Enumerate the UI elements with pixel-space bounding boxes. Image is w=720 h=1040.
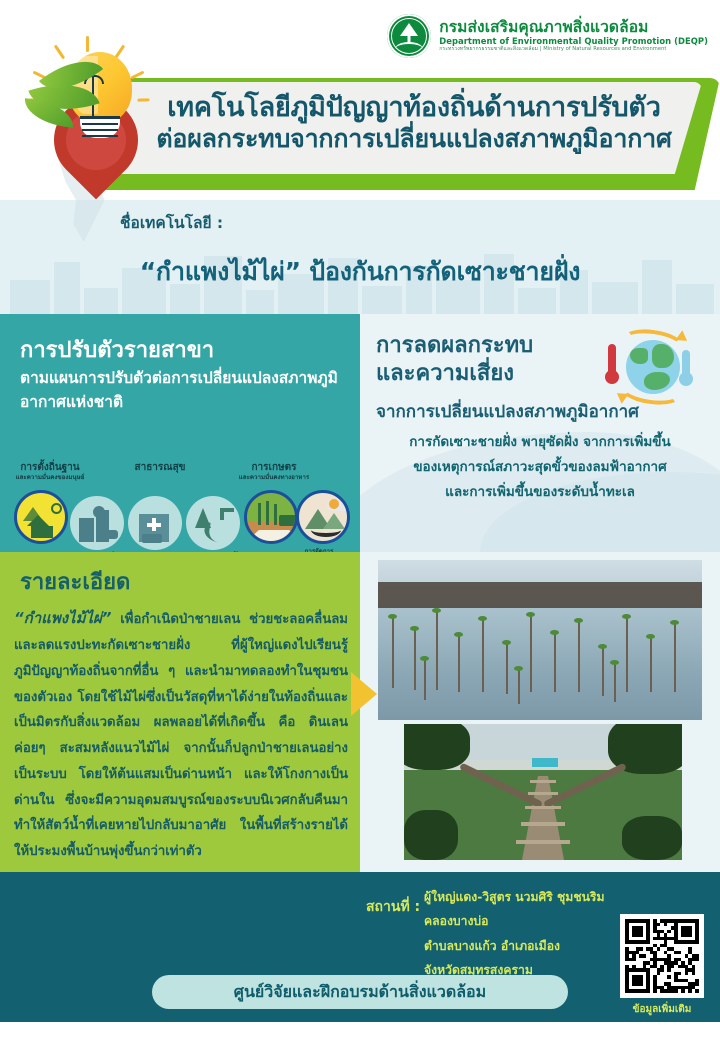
ministry-line: กระทรวงทรัพยากรธรรมชาติและสิ่งแวดล้อม | … (439, 47, 708, 53)
title-banner: เทคโนโลยีภูมิปัญญาท้องถิ่นด้านการปรับตัว… (88, 78, 720, 190)
adaptation-subheading: ตามแผนการปรับตัวต่อการเปลี่ยนแปลงสภาพภูม… (20, 366, 350, 414)
yellow-arrow-icon (351, 672, 377, 716)
sector-label-public-health: สาธารณสุข (120, 462, 200, 474)
details-text: เพื่อกำเนิดป่าชายเลน ช่วยชะลอคลื่นลมและล… (14, 612, 348, 859)
sector-icon-settlement[interactable] (14, 490, 68, 544)
mitigation-panel: การลดผลกระทบ และความเสี่ยง จากการเปลี่ยน… (360, 314, 720, 552)
thermometer-cold-icon (682, 350, 690, 376)
footer-badge: ศูนย์วิจัยและฝึกอบรมด้านสิ่งแวดล้อม (152, 975, 568, 1009)
sector-label-settlement: การตั้งถิ่นฐาน และความมั่นคงของมนุษย์ (2, 462, 98, 481)
adaptation-panel: การปรับตัวรายสาขา ตามแผนการปรับตัวต่อการ… (0, 314, 360, 552)
deqp-seal-icon (387, 14, 431, 58)
details-lead: “กำแพงไม้ไผ่” (14, 609, 111, 627)
deqp-logo: กรมส่งเสริมคุณภาพสิ่งแวดล้อม Department … (387, 14, 708, 58)
sector-icon-water-management[interactable] (186, 496, 240, 550)
sector-icon-agriculture[interactable] (244, 490, 298, 544)
qr-code[interactable] (620, 914, 704, 998)
org-name-th: กรมส่งเสริมคุณภาพสิ่งแวดล้อม (439, 19, 708, 36)
page-title-line2: ต่อผลกระทบจากการเปลี่ยนแปลงสภาพภูมิอากาศ (134, 124, 694, 154)
adaptation-heading: การปรับตัวรายสาขา (20, 332, 214, 367)
page-title-line1: เทคโนโลยีภูมิปัญญาท้องถิ่นด้านการปรับตัว (134, 92, 694, 124)
qr-caption: ข้อมูลเพิ่มเติม (610, 1002, 714, 1017)
page-header: กรมส่งเสริมคุณภาพสิ่งแวดล้อม Department … (0, 0, 720, 200)
lightbulb-map-pin-emblem (14, 42, 164, 217)
sector-icon-row: การตั้งถิ่นฐาน และความมั่นคงของมนุษย์ กา… (0, 474, 360, 552)
location-label: สถานที่ : (366, 896, 420, 918)
photo-group (360, 552, 720, 872)
details-body: “กำแพงไม้ไผ่” เพื่อกำเนิดป่าชายเลน ช่วยช… (14, 604, 348, 865)
location-address: ผู้ใหญ่แดง-วิสูตร นวมศิริ ชุมชนริมคลองบา… (424, 885, 624, 983)
technology-name: “กำแพงไม้ไผ่” ป้องกันการกัดเซาะชายฝั่ง (0, 252, 720, 292)
thermometer-hot-icon (608, 344, 616, 374)
sector-label-agriculture: การเกษตร และความมั่นคงทางอาหาร (228, 462, 320, 481)
mangrove-saplings-photo (378, 560, 702, 720)
mitigation-body: การกัดเซาะชายฝั่ง พายุซัดฝั่ง จากการเพิ่… (370, 430, 710, 505)
footer-text: ศูนย์วิจัยและฝึกอบรมด้านสิ่งแวดล้อม (234, 980, 486, 1005)
org-name-en: Department of Environmental Quality Prom… (439, 37, 708, 46)
mitigation-heading: การลดผลกระทบ และความเสี่ยง (376, 332, 606, 387)
sector-icon-tourism[interactable] (70, 496, 124, 550)
globe-thermometer-icon (600, 326, 696, 412)
bottom-white-strip (0, 1022, 720, 1040)
sector-icon-natural-resources[interactable] (296, 490, 350, 544)
sector-icon-public-health[interactable] (128, 496, 182, 550)
details-heading: รายละเอียด (20, 564, 130, 599)
bamboo-boardwalk-photo (404, 724, 682, 860)
